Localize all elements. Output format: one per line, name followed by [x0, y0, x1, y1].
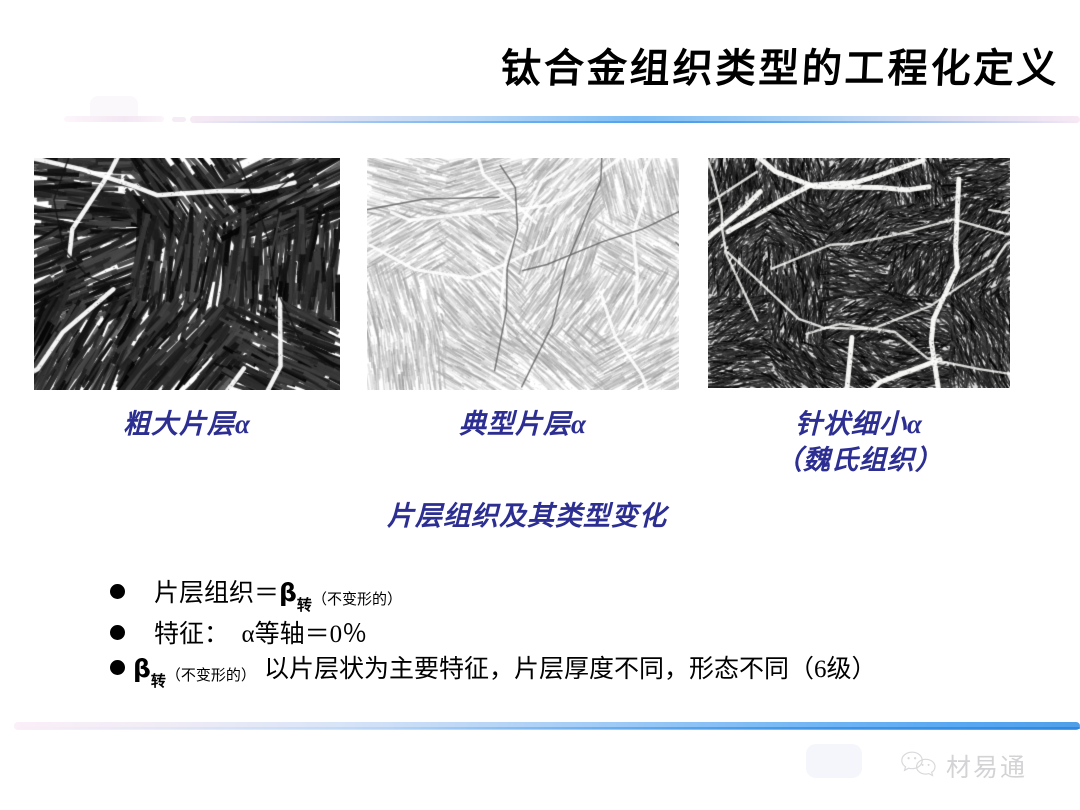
beta-symbol-1: β — [279, 578, 297, 607]
caption-text-2: 典型片层α — [459, 409, 587, 439]
footer-watermark: 材易通 — [900, 748, 1027, 784]
figure-caption-3: 针状细小α （魏氏组织） — [708, 406, 1010, 478]
caption-text-1: 粗大片层α — [123, 409, 251, 439]
bullet-dot-icon — [110, 625, 125, 640]
bullet-tail-3: 以片层状为主要特征，片层厚度不同，形态不同（6级） — [256, 656, 877, 683]
bullet-text-3: β转（不变形的）以片层状为主要特征，片层厚度不同，形态不同（6级） — [131, 654, 876, 694]
figure-caption-1: 粗大片层α — [34, 406, 340, 442]
micrograph-canvas-3 — [708, 158, 1010, 388]
micrograph-typical-lamellar — [367, 158, 679, 390]
micrograph-acicular-fine — [708, 158, 1010, 388]
watermark-label: 材易通 — [946, 748, 1027, 784]
decorative-rule-left-tick — [172, 117, 186, 122]
bullet-text-1: 片层组织＝β转（不变形的） — [131, 578, 402, 618]
bullet-item-2: 特征： α等轴＝0％ — [110, 620, 1050, 650]
caption-text-3: 针状细小α — [795, 409, 923, 439]
bullet-text-2: 特征： α等轴＝0％ — [131, 620, 367, 650]
micrograph-coarse-lamellar — [34, 158, 340, 390]
bullet-main-1: 片层组织＝ — [154, 580, 279, 607]
bullet-list: 片层组织＝β转（不变形的） 特征： α等轴＝0％ β转（不变形的）以片层状为主要… — [110, 578, 1050, 696]
wechat-icon — [900, 750, 938, 783]
figure-caption-2: 典型片层α — [367, 406, 679, 442]
micrograph-canvas-2 — [367, 158, 679, 390]
decorative-blob-footer — [806, 744, 862, 778]
bullet-paren-1: （不变形的） — [312, 592, 402, 608]
bullet-item-1: 片层组织＝β转（不变形的） — [110, 578, 1050, 618]
caption-text-3-line2: （魏氏组织） — [708, 442, 1010, 478]
section-subtitle: 片层组织及其类型变化 — [0, 494, 1067, 533]
title-divider-accent — [190, 121, 1080, 123]
decorative-rule-left — [64, 116, 164, 122]
slide-canvas: 钛合金组织类型的工程化定义 粗大片层α 典型片层α 针状细小α （魏氏组织） 片… — [0, 0, 1080, 810]
bullet-paren-3: （不变形的） — [166, 668, 256, 684]
beta-subscript-3: 转 — [151, 674, 166, 690]
micrograph-canvas-1 — [34, 158, 340, 390]
footer-divider-accent — [14, 727, 1080, 729]
bullet-item-3: β转（不变形的）以片层状为主要特征，片层厚度不同，形态不同（6级） — [110, 654, 1050, 694]
bullet-dot-icon — [110, 660, 125, 675]
page-title: 钛合金组织类型的工程化定义 — [398, 36, 1061, 94]
beta-symbol-3: β — [133, 654, 151, 683]
beta-subscript-1: 转 — [297, 598, 312, 614]
bullet-main-2: 特征： α等轴＝0％ — [154, 621, 367, 648]
bullet-dot-icon — [110, 584, 125, 599]
